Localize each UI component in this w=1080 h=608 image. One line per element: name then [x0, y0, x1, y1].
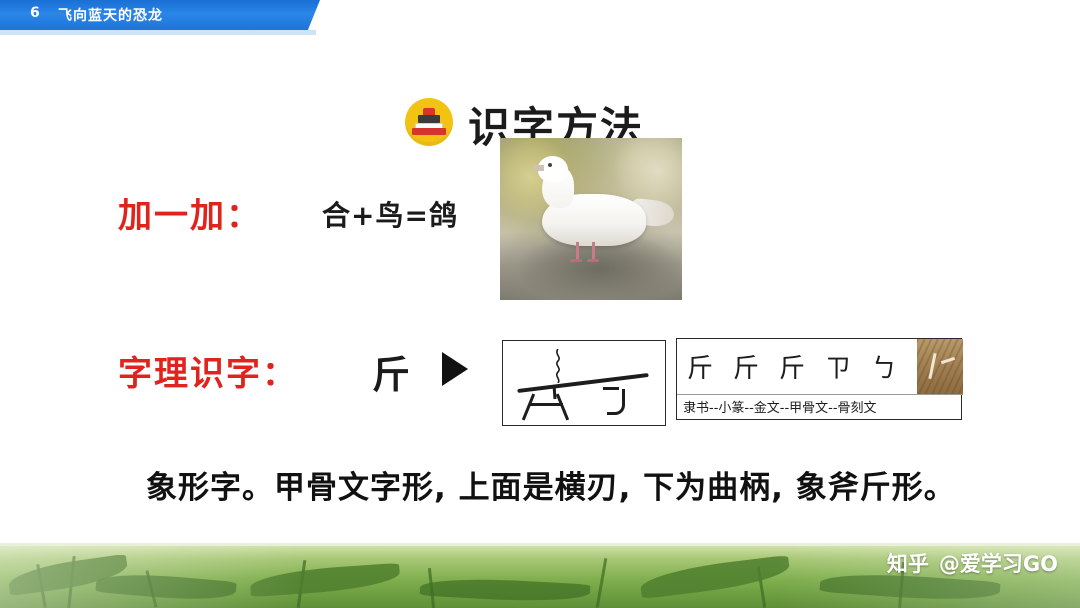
- explanation-text: 象形字。甲骨文字形, 上面是横刃, 下为曲柄, 象斧斤形。: [146, 462, 946, 507]
- rubbing-stroke-2: [941, 357, 955, 364]
- evolution-glyph: 斤: [769, 348, 815, 385]
- right-triangle-arrow-icon: [442, 352, 468, 386]
- evolution-glyph: 斤: [723, 348, 769, 385]
- lesson-title: 飞向蓝天的恐龙: [58, 5, 163, 25]
- target-character: 斤: [372, 344, 410, 399]
- evolution-glyph: ㄅ: [861, 348, 907, 385]
- slide-header: 6 飞向蓝天的恐龙: [0, 0, 1080, 34]
- watermark-handle: @爱学习GO: [939, 548, 1058, 578]
- header-ribbon: [0, 0, 330, 30]
- slide-title-block: 识字方法: [0, 44, 1080, 106]
- dove-beak: [532, 165, 544, 171]
- evolution-glyph: ㄗ: [815, 348, 861, 385]
- axe-handle-right: [556, 393, 569, 420]
- watermark-site: 知乎: [887, 548, 929, 578]
- dove-foot-left: [570, 259, 582, 262]
- book-red: [412, 128, 446, 135]
- character-formula: 合+鸟=鸽: [322, 194, 458, 234]
- row-label-etymology: 字理识字：: [118, 346, 298, 395]
- dove-eye: [548, 163, 552, 167]
- dove-leg-left: [576, 242, 579, 260]
- evolution-glyph-row: 斤 斤 斤 ㄗ ㄅ: [677, 339, 963, 395]
- watermark: 知乎 @爱学习GO: [887, 548, 1058, 578]
- axe-cord-squiggle: [553, 349, 563, 383]
- axe-handle-left: [522, 393, 535, 420]
- rubbing-stroke-1: [928, 353, 936, 379]
- axe-blade-line: [517, 373, 649, 393]
- lesson-number: 6: [30, 5, 40, 21]
- dove-leg-right: [592, 242, 595, 260]
- bone-rubbing-swatch: [917, 339, 963, 394]
- oracle-bone-axe-drawing: [502, 340, 666, 426]
- books-stack-icon: [405, 98, 453, 146]
- white-dove-photo: [500, 138, 682, 300]
- axe-crossbar: [529, 403, 563, 406]
- script-evolution-chart: 斤 斤 斤 ㄗ ㄅ 隶书--小篆--金文--甲骨文--骨刻文: [676, 338, 962, 420]
- axe-hook-curve: [607, 389, 625, 415]
- book-dark: [418, 115, 440, 123]
- header-ribbon-underline: [0, 30, 316, 35]
- row-label-add: 加一加：: [118, 188, 262, 237]
- dove-foot-right: [587, 259, 599, 262]
- evolution-glyph: 斤: [677, 348, 723, 385]
- evolution-caption: 隶书--小篆--金文--甲骨文--骨刻文: [683, 397, 877, 416]
